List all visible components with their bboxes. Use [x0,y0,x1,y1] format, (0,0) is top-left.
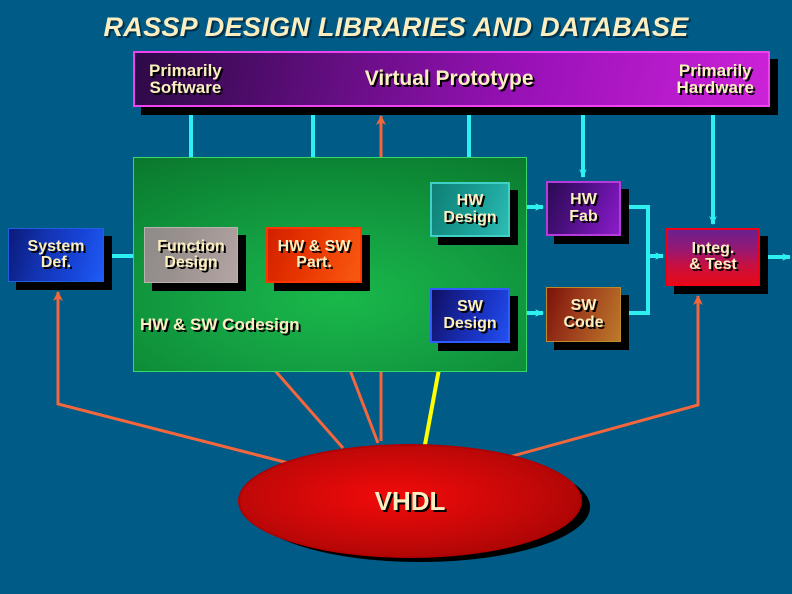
box-face: HW Fab [546,181,621,236]
box-label-line1: System [28,239,85,255]
vpbar-left-line2: Software [149,79,222,96]
box-label-line1: HW & SW [278,239,351,255]
box-system-def[interactable]: System Def. [8,228,104,282]
box-label-line2: Fab [569,209,597,225]
vpbar-left-label: Primarily Software [149,62,222,97]
box-label-line1: SW [571,298,597,314]
box-face: SW Code [546,287,621,342]
box-label-line2: Def. [41,255,71,271]
box-label-line2: Design [443,210,496,226]
box-face: HW & SW Part. [266,227,362,283]
vhdl-label: VHDL [375,486,446,517]
box-label-line1: Function [157,239,225,255]
box-face: Function Design [144,227,238,283]
box-function-design[interactable]: Function Design [144,227,238,283]
box-face: HW Design [430,182,510,237]
box-hw-fab[interactable]: HW Fab [546,181,621,236]
vpbar-face: Primarily Software Virtual Prototype Pri… [133,51,770,107]
box-sw-code[interactable]: SW Code [546,287,621,342]
box-label-line2: Design [164,255,217,271]
box-integ-test[interactable]: Integ. & Test [666,228,760,286]
box-sw-design[interactable]: SW Design [430,288,510,343]
box-hw-design[interactable]: HW Design [430,182,510,237]
codesign-label-line1: HW & SW [140,315,217,334]
box-label-line1: HW [457,193,484,209]
box-face: SW Design [430,288,510,343]
codesign-label-line2: Codesign [222,315,299,334]
hw-sw-codesign-label: HW & SW Codesign [140,316,300,334]
vhdl-ellipse[interactable]: VHDL [238,444,582,558]
diagram-canvas: RASSP DESIGN LIBRARIES AND DATABASE [0,0,792,594]
vpbar-right-label: Primarily Hardware [677,62,754,97]
box-label-line1: SW [457,299,483,315]
box-label-line2: Design [443,316,496,332]
vpbar-center-label: Virtual Prototype [365,68,534,89]
box-label-line2: Code [564,315,604,331]
virtual-prototype-bar[interactable]: Primarily Software Virtual Prototype Pri… [133,51,770,107]
box-label-line2: & Test [689,257,737,273]
vpbar-left-line1: Primarily [149,62,222,79]
box-label-line2: Part. [296,255,332,271]
box-label-line1: HW [570,192,597,208]
box-label-line1: Integ. [692,241,735,257]
box-face: System Def. [8,228,104,282]
box-hw-sw-part[interactable]: HW & SW Part. [266,227,362,283]
box-face: Integ. & Test [666,228,760,286]
vpbar-right-line2: Hardware [677,79,754,96]
vpbar-right-line1: Primarily [677,62,754,79]
